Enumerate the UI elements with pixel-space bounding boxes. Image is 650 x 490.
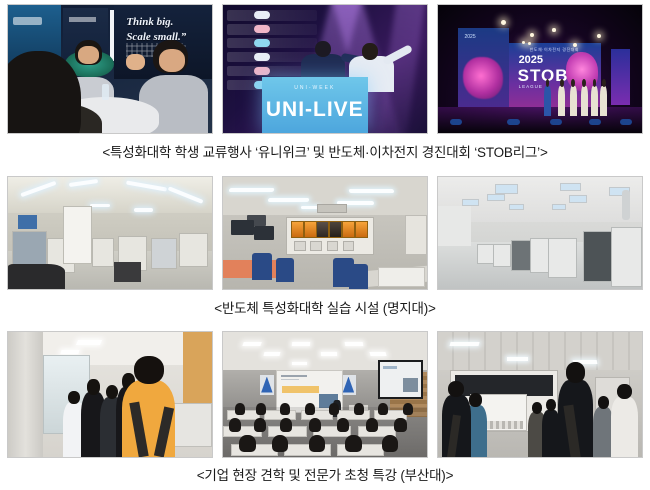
- ceiling-light-panel: [495, 184, 517, 194]
- furnace-control-panel: [343, 241, 354, 251]
- stage-screen-year: 2025: [519, 54, 543, 66]
- stage-person: [591, 86, 598, 117]
- stage-list-chip: [254, 53, 270, 60]
- stage-person: [581, 86, 588, 117]
- process-tool: [493, 244, 511, 266]
- slide-highlight-block: [282, 386, 319, 393]
- floor-logo-tile: [450, 119, 462, 125]
- stage-screen-left-text: 2025: [465, 34, 476, 42]
- stage-list-row: [227, 38, 317, 48]
- machine-dark-section: [455, 375, 553, 395]
- podium-small-label: UNI-WEEK: [262, 85, 368, 91]
- attendee-head: [309, 418, 321, 432]
- attendee-head: [256, 403, 266, 414]
- attendee-head: [337, 418, 349, 432]
- furnace-window: [304, 221, 317, 237]
- lab-blue-equipment: [18, 215, 36, 228]
- process-tool: [611, 227, 642, 287]
- photo-2-3: [437, 176, 643, 290]
- lab-equipment: [179, 233, 208, 266]
- ceiling-light-panel: [487, 194, 505, 202]
- host-right-head: [362, 43, 378, 60]
- stage-person: [570, 86, 577, 117]
- student-figure: [611, 397, 638, 457]
- ceiling-vent: [317, 204, 348, 213]
- stage-floor: [438, 107, 642, 133]
- ceiling-light: [450, 342, 480, 346]
- attendee-head: [229, 418, 241, 432]
- wall-monitor: [378, 360, 423, 399]
- monitor-slide-bar: [383, 366, 398, 368]
- ceiling-light: [292, 362, 306, 365]
- booth-banner-line-1: Think big.: [126, 15, 186, 30]
- spotlight: [528, 42, 531, 45]
- factory-ceiling: [438, 332, 642, 370]
- furnace-window: [316, 221, 329, 237]
- ceiling-light: [369, 352, 386, 356]
- lab-equipment: [12, 231, 47, 269]
- podium-title-label: UNI-LIVE: [262, 98, 368, 122]
- attendee-head: [354, 403, 364, 414]
- stage-person: [558, 86, 565, 117]
- ceiling-light: [321, 352, 338, 356]
- hall-banner-right: [341, 375, 355, 395]
- process-tool: [511, 240, 531, 271]
- photo-row-2: [7, 176, 643, 290]
- corridor-wood-wall: [183, 332, 212, 412]
- photo-3-1: [7, 331, 213, 458]
- photo-row-1: Think big. Scale small.”: [7, 4, 643, 134]
- ceiling-light: [76, 340, 102, 345]
- lab-equipment: [151, 238, 177, 269]
- lab-foreground-bench: [8, 264, 65, 289]
- attendee-head: [235, 403, 245, 414]
- ceiling-light: [243, 342, 263, 346]
- stage-person: [600, 86, 607, 117]
- ceiling-light: [60, 350, 80, 354]
- person-right-hand: [126, 54, 144, 71]
- lab-chair: [276, 258, 294, 283]
- photo-1-1: Think big. Scale small.”: [7, 4, 213, 134]
- ceiling-light-panel: [509, 204, 523, 210]
- attendee-head: [394, 418, 406, 432]
- right-cabinet: [405, 215, 427, 255]
- slide-title-bar: [281, 375, 307, 377]
- photo-2-1: [7, 176, 213, 290]
- attendee-head: [305, 403, 315, 414]
- stage-screen-subtitle: LEAGUE: [519, 84, 543, 89]
- ceiling-light: [90, 204, 110, 207]
- photo-3-2: [222, 331, 428, 458]
- photo-1-2: UNI-WEEK UNI-LIVE: [222, 4, 428, 134]
- stage-list-chip: [254, 25, 270, 32]
- floor-logo-tile: [507, 119, 519, 125]
- monitor-slide-image: [403, 378, 419, 392]
- caption-row-1: <특성화대학 학생 교류행사 ‘유니위크’ 및 반도체·이차전지 경진대회 ‘S…: [0, 141, 650, 161]
- attendee-head: [239, 435, 255, 453]
- spotlight: [522, 41, 525, 44]
- benchtop-instrument: [378, 267, 425, 287]
- furnace-window: [291, 221, 304, 237]
- stage-list-row: [227, 10, 317, 20]
- photo-1-3: 2025 반도체·이차전지 경진대회 2025 STOB LEAGUE: [437, 4, 643, 134]
- caption-row-3: <기업 현장 견학 및 전문가 초청 특강 (부산대)>: [0, 464, 650, 484]
- floor-logo-tile: [550, 119, 562, 125]
- attendee-head: [378, 403, 388, 414]
- process-tool: [548, 238, 577, 278]
- hall-banner-left: [260, 375, 274, 395]
- photo-row-3: [7, 331, 643, 458]
- ceiling-light: [345, 342, 364, 346]
- stage-screen-top-text: 반도체·이차전지 경진대회: [530, 47, 579, 53]
- student-figure: [593, 407, 613, 457]
- attendee-head: [309, 435, 325, 453]
- diffusion-furnace-bank: [286, 217, 374, 255]
- lab-monitor: [254, 226, 274, 239]
- attendee-head: [254, 418, 266, 432]
- uni-live-podium: UNI-WEEK UNI-LIVE: [262, 77, 368, 133]
- ceiling-light: [228, 188, 274, 192]
- furnace-control-panel: [310, 241, 321, 251]
- attendee-head: [403, 403, 413, 414]
- ceiling-light-panel: [552, 204, 566, 210]
- document-page: Think big. Scale small.”: [0, 0, 650, 490]
- attendee-head: [272, 435, 288, 453]
- ceiling-light-panel: [560, 183, 580, 192]
- ceiling-light: [292, 342, 311, 346]
- stage-graphic-blob-left: [463, 57, 503, 100]
- cleanroom-duct: [622, 190, 630, 219]
- attendee-head: [280, 403, 290, 414]
- stage-list-chip: [254, 39, 270, 46]
- floor-logo-tile: [589, 119, 601, 125]
- corridor-pillar: [8, 332, 43, 457]
- spotlight: [530, 33, 534, 37]
- photo-2-2: [222, 176, 428, 290]
- furnace-control-panel: [294, 241, 305, 251]
- lab-dark-equipment: [114, 262, 141, 282]
- stage-person: [544, 86, 551, 117]
- ceiling-light: [134, 208, 152, 211]
- stage-list-chip: [254, 11, 270, 18]
- stage-list-chip: [254, 67, 270, 74]
- stage-screen-right: [611, 49, 629, 105]
- caption-row-2: <반도체 특성화대학 실습 시설 (명지대)>: [0, 297, 650, 317]
- ceiling-light: [263, 352, 280, 356]
- lab-equipment: [92, 238, 114, 267]
- stage-list-row: [227, 24, 317, 34]
- ceiling-light-panel: [569, 195, 587, 203]
- attendee-head: [280, 418, 292, 432]
- cleanroom-left-wall: [438, 206, 471, 246]
- process-tool: [583, 231, 614, 282]
- person-right-face: [159, 49, 186, 72]
- attendee-head: [366, 418, 378, 432]
- lab-door: [63, 206, 92, 264]
- slide-subtitle-bar: [281, 379, 299, 381]
- lab-monitor: [231, 220, 253, 236]
- photo-3-3: [437, 331, 643, 458]
- attendee-head: [382, 435, 398, 453]
- furnace-window: [342, 221, 355, 237]
- furnace-window: [355, 221, 368, 237]
- furnace-control-panel: [327, 241, 338, 251]
- water-bottle: [102, 84, 109, 99]
- spotlight: [552, 28, 556, 32]
- attendee-head: [345, 435, 361, 453]
- lab-chair: [252, 253, 272, 280]
- ceiling-light: [507, 357, 527, 361]
- lab-chair: [349, 264, 367, 289]
- attendee-head: [329, 403, 339, 414]
- floor-logo-tile: [620, 119, 632, 125]
- stage-screen-left: 2025: [458, 28, 509, 107]
- person-middle-face: [78, 46, 98, 64]
- furnace-window: [329, 221, 342, 237]
